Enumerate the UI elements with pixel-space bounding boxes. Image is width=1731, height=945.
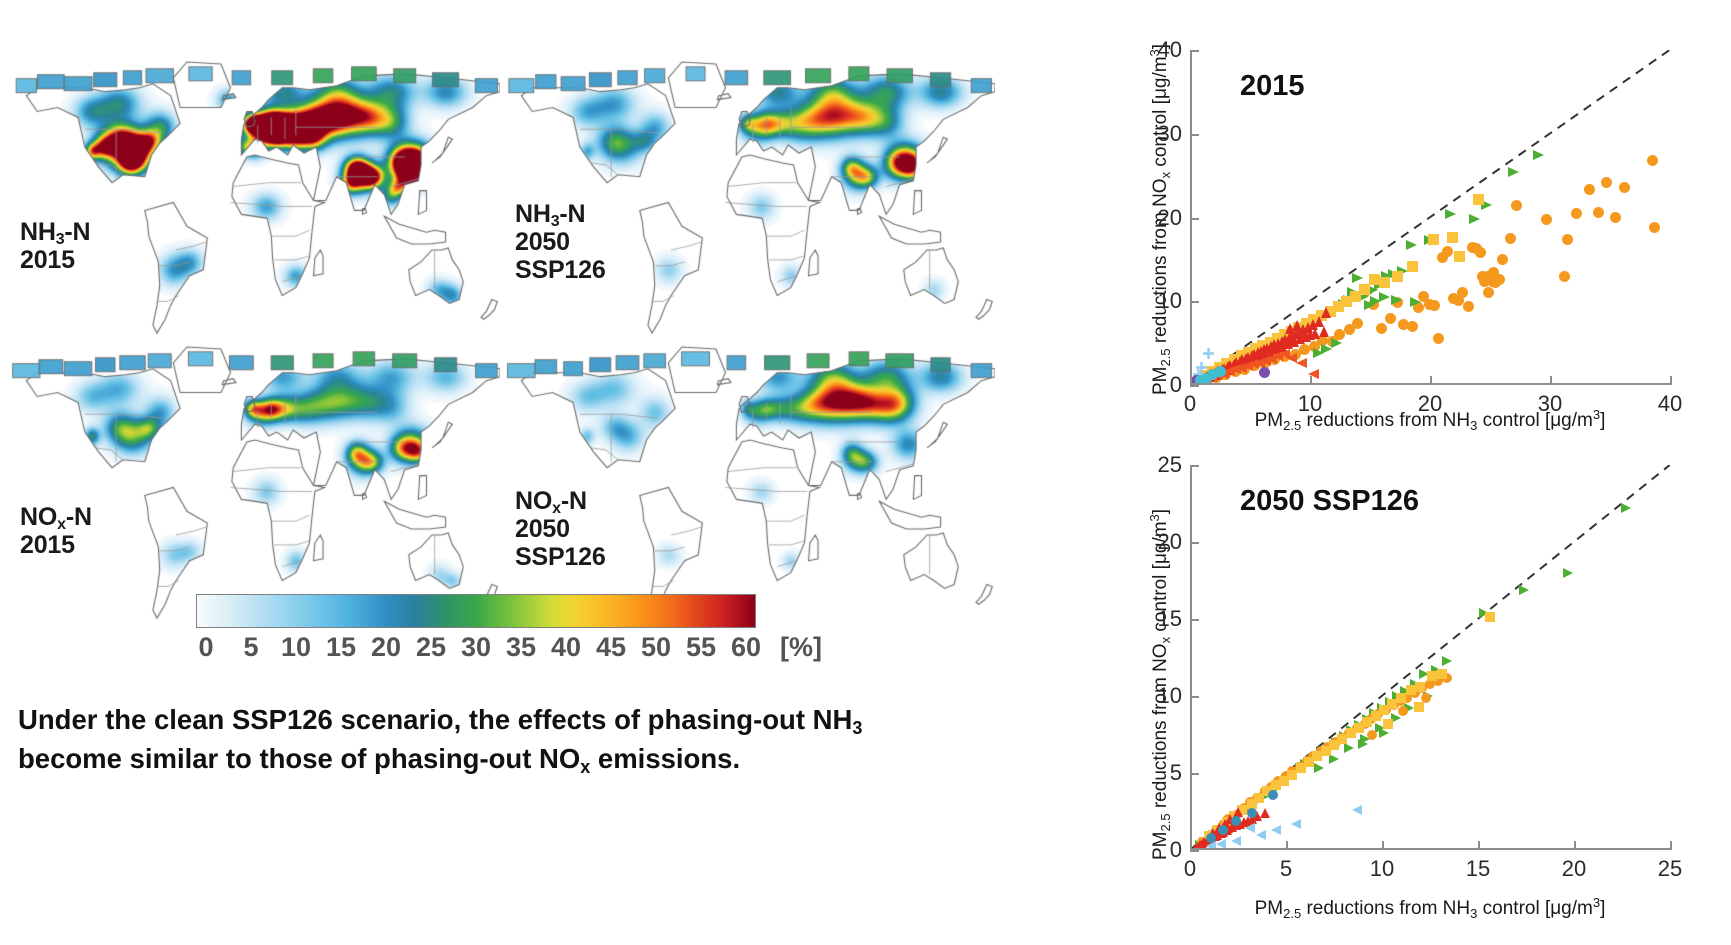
y-tick-label-0: 0 <box>1142 372 1182 398</box>
plot-area-2050 <box>1190 465 1670 850</box>
data-point-yellow-square <box>1296 763 1306 773</box>
y-tick-label-0: 0 <box>1142 837 1182 863</box>
data-point-green-triangle-right <box>1344 743 1354 753</box>
data-point-green-triangle-right <box>1313 348 1324 358</box>
map-label-nh3-2015: NH3-N 2015 <box>20 218 90 274</box>
data-point-green-triangle-right <box>1533 150 1544 160</box>
x-tickmark <box>1190 841 1192 850</box>
data-point-orange-circle <box>1376 323 1387 334</box>
colorbar-tick-40: 40 <box>551 632 581 663</box>
data-point-orange-circle <box>1497 254 1508 265</box>
y-tickmark <box>1190 134 1199 136</box>
colorbar-unit: [%] <box>780 632 822 663</box>
data-point-orange-circle <box>1344 324 1355 335</box>
x-tick-label-20: 20 <box>1562 856 1586 882</box>
y-tickmark <box>1190 773 1199 775</box>
data-point-yellow-square <box>1407 261 1418 272</box>
scatter-panel-2050-ssp126: PM2.5 reductions from NOx control [μg/m3… <box>1010 440 1731 945</box>
data-point-orange-circle <box>1505 233 1516 244</box>
data-point-orange-circle <box>1610 212 1621 223</box>
colorbar-tick-labels: 051015202530354045505560[%] <box>196 632 816 670</box>
map-nox-2015 <box>10 345 500 630</box>
data-point-orange-circle <box>1647 155 1658 166</box>
data-point-green-triangle-right <box>1508 167 1519 177</box>
data-point-orange-circle <box>1601 177 1612 188</box>
map-canvas-nh3-2015 <box>10 60 500 345</box>
colorbar-tick-50: 50 <box>641 632 671 663</box>
data-point-green-triangle-right <box>1442 656 1452 666</box>
data-point-orange-circle <box>1437 252 1448 263</box>
y-tickmark <box>1190 465 1199 467</box>
x-tickmark <box>1478 841 1480 850</box>
data-point-red-triangle-up <box>1319 326 1329 337</box>
data-point-yellow-square <box>1369 274 1380 285</box>
data-point-orange-circle <box>1407 321 1418 332</box>
data-point-green-triangle-right <box>1469 214 1480 224</box>
y-tick-label-10: 10 <box>1142 683 1182 709</box>
data-point-green-triangle-right <box>1563 568 1573 578</box>
data-point-lightblue-triangle-left <box>1231 836 1241 846</box>
data-point-purple-circle <box>1259 367 1270 378</box>
x-tickmark <box>1670 841 1672 850</box>
data-point-green-triangle-right <box>1391 295 1402 305</box>
colorbar-gradient <box>196 594 756 628</box>
caption-text: Under the clean SSP126 scenario, the eff… <box>18 700 978 778</box>
data-point-orange-circle <box>1385 313 1396 324</box>
map-label-nox-2050: NOx-N 2050 SSP126 <box>515 487 606 571</box>
colorbar-tick-5: 5 <box>243 632 258 663</box>
colorbar-tick-30: 30 <box>461 632 491 663</box>
data-point-red-triangle-left <box>1296 358 1307 368</box>
data-point-orange-circle <box>1433 333 1444 344</box>
data-point-yellow-square <box>1379 277 1390 288</box>
data-point-green-triangle-right <box>1352 273 1363 283</box>
data-point-green-triangle-right <box>1445 209 1456 219</box>
data-point-orange-circle <box>1562 234 1573 245</box>
data-point-lightblue-triangle-left <box>1291 819 1301 829</box>
x-tickmark <box>1382 841 1384 850</box>
y-tickmark <box>1190 619 1199 621</box>
data-point-yellow-square <box>1414 702 1424 712</box>
data-point-orange-circle <box>1398 319 1409 330</box>
colorbar: 051015202530354045505560[%] <box>196 594 816 670</box>
data-point-teal-small <box>1231 816 1241 826</box>
data-point-green-triangle-right <box>1406 240 1417 250</box>
plot-points-2050 <box>1192 465 1670 848</box>
y-tickmark <box>1190 696 1199 698</box>
y-tick-label-5: 5 <box>1142 760 1182 786</box>
data-point-yellow-square <box>1415 682 1425 692</box>
data-point-orange-circle <box>1398 706 1408 716</box>
data-point-yellow-square <box>1371 711 1381 721</box>
colorbar-tick-15: 15 <box>326 632 356 663</box>
plot-title-2015: 2015 <box>1240 70 1305 103</box>
data-point-orange-circle <box>1541 214 1552 225</box>
x-tickmark <box>1670 376 1672 385</box>
colorbar-tick-0: 0 <box>198 632 213 663</box>
y-tickmark <box>1190 301 1199 303</box>
data-point-yellow-square <box>1427 671 1437 681</box>
data-point-red-triangle-up <box>1192 843 1201 848</box>
y-tick-label-25: 25 <box>1142 452 1182 478</box>
data-point-green-triangle-right <box>1410 297 1421 307</box>
y-tickmark <box>1190 850 1199 852</box>
data-point-green-triangle-right <box>1379 728 1389 738</box>
data-point-lightblue-plus <box>1203 346 1214 357</box>
data-point-yellow-square <box>1383 719 1393 729</box>
data-point-yellow-square <box>1428 234 1439 245</box>
data-point-yellow-square <box>1346 728 1356 738</box>
data-point-orange-circle <box>1367 730 1377 740</box>
data-point-green-triangle-right <box>1519 585 1529 595</box>
data-point-orange-circle <box>1511 200 1522 211</box>
map-canvas-nox-2015 <box>10 345 500 630</box>
data-point-orange-circle <box>1559 271 1570 282</box>
data-point-green-triangle-right <box>1364 300 1375 310</box>
colorbar-tick-55: 55 <box>686 632 716 663</box>
data-point-green-triangle-right <box>1314 763 1324 773</box>
x-tickmark <box>1574 841 1576 850</box>
colorbar-tick-10: 10 <box>281 632 311 663</box>
colorbar-tick-20: 20 <box>371 632 401 663</box>
map-label-nh3-2050: NH3-N 2050 SSP126 <box>515 200 606 284</box>
colorbar-tick-60: 60 <box>731 632 761 663</box>
data-point-lightblue-triangle-left <box>1216 839 1226 848</box>
maps-panel: NH3-N 2015 NH3-N 2050 SSP126 NOx-N 2015 … <box>0 0 1010 945</box>
data-point-yellow-square <box>1321 746 1331 756</box>
data-point-teal-small <box>1218 825 1228 835</box>
y-tick-label-40: 40 <box>1142 37 1182 63</box>
x-axis-title-2015: PM2.5 reductions from NH3 control [μg/m3… <box>1190 410 1670 432</box>
data-point-orange-circle <box>1584 184 1595 195</box>
data-point-lightblue-triangle-left <box>1245 823 1255 833</box>
data-point-cyan-small <box>1195 375 1206 383</box>
y-tick-label-15: 15 <box>1142 606 1182 632</box>
data-point-teal-small <box>1247 808 1257 818</box>
x-tickmark <box>1430 376 1432 385</box>
x-tickmark <box>1550 376 1552 385</box>
data-point-lightblue-triangle-left <box>1352 805 1362 815</box>
x-tickmark <box>1286 841 1288 850</box>
x-tickmark <box>1190 376 1192 385</box>
data-point-yellow-square <box>1392 271 1403 282</box>
map-label-nox-2015: NOx-N 2015 <box>20 503 92 559</box>
y-tickmark <box>1190 385 1199 387</box>
data-point-orange-circle <box>1593 207 1604 218</box>
data-point-green-triangle-right <box>1621 503 1631 513</box>
data-point-teal-small <box>1206 833 1216 843</box>
x-tickmark <box>1310 376 1312 385</box>
data-point-yellow-square <box>1473 194 1484 205</box>
data-point-orange-circle <box>1571 208 1582 219</box>
x-tick-label-10: 10 <box>1370 856 1394 882</box>
x-axis-title-2050: PM2.5 reductions from NH3 control [μg/m3… <box>1190 898 1670 920</box>
data-point-lightblue-triangle-left <box>1256 830 1266 840</box>
data-point-yellow-square <box>1271 780 1281 790</box>
data-point-orange-circle <box>1299 344 1310 355</box>
y-tick-label-30: 30 <box>1142 121 1182 147</box>
x-tick-label-0: 0 <box>1184 856 1196 882</box>
scatter-panel-2015: PM2.5 reductions from NOx control [μg/m3… <box>1010 10 1731 440</box>
data-point-orange-circle <box>1463 301 1474 312</box>
data-point-green-triangle-right <box>1331 338 1342 348</box>
data-point-yellow-square <box>1437 669 1447 679</box>
data-point-orange-circle <box>1619 182 1630 193</box>
plot-title-2050: 2050 SSP126 <box>1240 485 1419 518</box>
data-point-yellow-square <box>1396 693 1406 703</box>
y-tick-label-20: 20 <box>1142 205 1182 231</box>
x-tick-label-25: 25 <box>1658 856 1682 882</box>
colorbar-tick-25: 25 <box>416 632 446 663</box>
data-point-yellow-square <box>1359 284 1370 295</box>
data-point-green-triangle-right <box>1358 739 1368 749</box>
map-nh3-2015 <box>10 60 500 345</box>
data-point-teal-small <box>1268 790 1278 800</box>
data-point-yellow-square <box>1485 612 1495 622</box>
x-tick-label-15: 15 <box>1466 856 1490 882</box>
data-point-orange-circle <box>1483 287 1494 298</box>
x-tick-label-5: 5 <box>1280 856 1292 882</box>
data-point-yellow-square <box>1406 685 1416 695</box>
data-point-lightblue-triangle-left <box>1271 825 1281 835</box>
y-tick-label-10: 10 <box>1142 288 1182 314</box>
colorbar-tick-35: 35 <box>506 632 536 663</box>
colorbar-tick-45: 45 <box>596 632 626 663</box>
y-tickmark <box>1190 50 1199 52</box>
data-point-yellow-square <box>1447 232 1458 243</box>
data-point-red-triangle-up <box>1285 323 1295 334</box>
data-point-orange-circle <box>1649 222 1660 233</box>
data-point-yellow-square <box>1454 251 1465 262</box>
y-tickmark <box>1190 542 1199 544</box>
y-tickmark <box>1190 218 1199 220</box>
y-tick-label-20: 20 <box>1142 529 1182 555</box>
